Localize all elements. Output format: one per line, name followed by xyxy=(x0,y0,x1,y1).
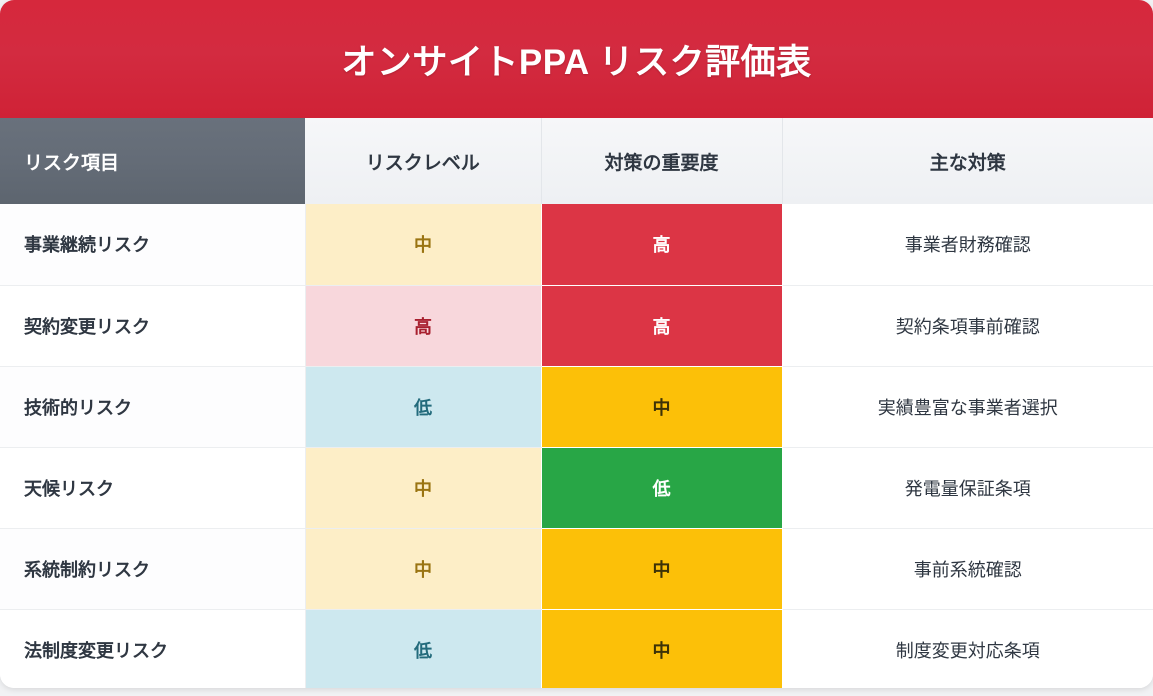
cell-measure: 事業者財務確認 xyxy=(782,204,1153,285)
cell-risk-level: 中 xyxy=(305,528,541,609)
cell-measure: 発電量保証条項 xyxy=(782,447,1153,528)
cell-risk-item: 技術的リスク xyxy=(0,366,305,447)
cell-measure: 事前系統確認 xyxy=(782,528,1153,609)
page-title: オンサイトPPA リスク評価表 xyxy=(341,34,811,85)
header-row: リスク項目 リスクレベル 対策の重要度 主な対策 xyxy=(0,118,1153,204)
column-header-importance[interactable]: 対策の重要度 xyxy=(541,118,782,204)
cell-risk-item: 法制度変更リスク xyxy=(0,609,305,688)
cell-importance: 高 xyxy=(541,204,782,285)
cell-measure: 契約条項事前確認 xyxy=(782,285,1153,366)
cell-risk-level: 高 xyxy=(305,285,541,366)
cell-risk-level: 中 xyxy=(305,204,541,285)
column-header-measure[interactable]: 主な対策 xyxy=(782,118,1153,204)
column-header-risk-level[interactable]: リスクレベル xyxy=(305,118,541,204)
cell-risk-item: 天候リスク xyxy=(0,447,305,528)
cell-risk-level: 中 xyxy=(305,447,541,528)
cell-importance: 中 xyxy=(541,528,782,609)
cell-importance: 低 xyxy=(541,447,782,528)
table-row: 契約変更リスク高高契約条項事前確認 xyxy=(0,285,1153,366)
risk-assessment-card: オンサイトPPA リスク評価表 リスク項目 リスクレベル 対策の重要度 主な対策… xyxy=(0,0,1153,688)
cell-measure: 実績豊富な事業者選択 xyxy=(782,366,1153,447)
table-row: 技術的リスク低中実績豊富な事業者選択 xyxy=(0,366,1153,447)
cell-importance: 中 xyxy=(541,366,782,447)
cell-risk-item: 事業継続リスク xyxy=(0,204,305,285)
table-header: リスク項目 リスクレベル 対策の重要度 主な対策 xyxy=(0,118,1153,204)
cell-risk-item: 系統制約リスク xyxy=(0,528,305,609)
cell-importance: 中 xyxy=(541,609,782,688)
table-row: 法制度変更リスク低中制度変更対応条項 xyxy=(0,609,1153,688)
cell-risk-level: 低 xyxy=(305,366,541,447)
cell-risk-level: 低 xyxy=(305,609,541,688)
table-row: 系統制約リスク中中事前系統確認 xyxy=(0,528,1153,609)
cell-importance: 高 xyxy=(541,285,782,366)
risk-assessment-table: リスク項目 リスクレベル 対策の重要度 主な対策 事業継続リスク中高事業者財務確… xyxy=(0,118,1153,688)
column-header-risk-item[interactable]: リスク項目 xyxy=(0,118,305,204)
cell-measure: 制度変更対応条項 xyxy=(782,609,1153,688)
cell-risk-item: 契約変更リスク xyxy=(0,285,305,366)
table-row: 天候リスク中低発電量保証条項 xyxy=(0,447,1153,528)
title-banner: オンサイトPPA リスク評価表 xyxy=(0,0,1153,118)
table-row: 事業継続リスク中高事業者財務確認 xyxy=(0,204,1153,285)
table-body: 事業継続リスク中高事業者財務確認契約変更リスク高高契約条項事前確認技術的リスク低… xyxy=(0,204,1153,688)
